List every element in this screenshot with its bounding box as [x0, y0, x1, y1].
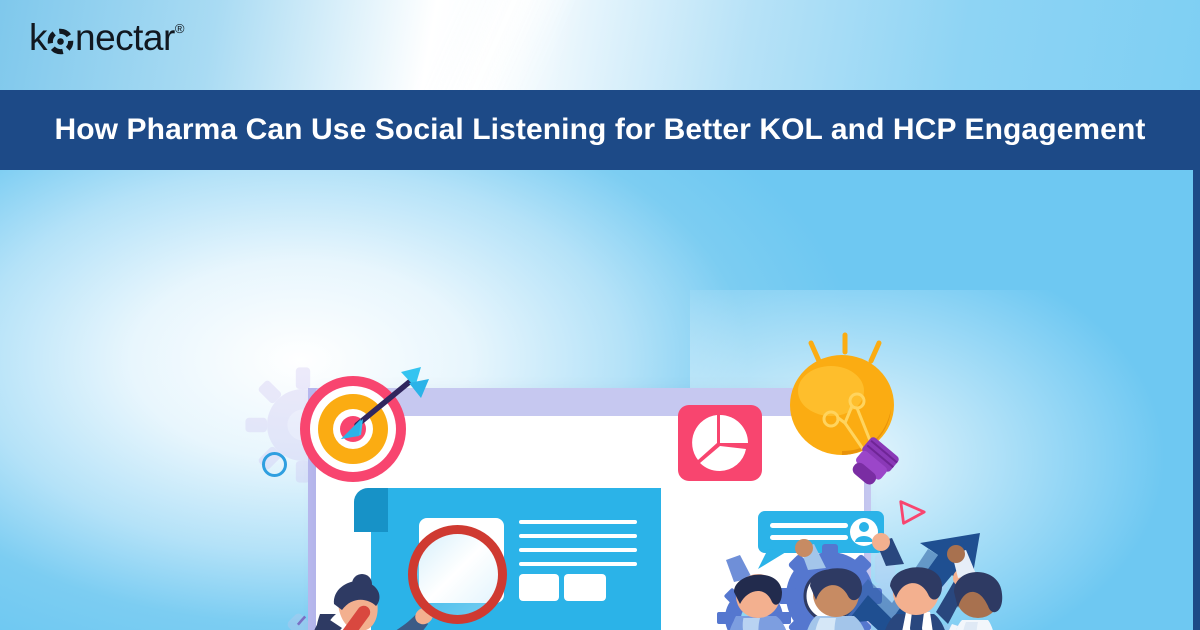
title-bar: How Pharma Can Use Social Listening for …	[0, 90, 1200, 170]
card-text-line	[519, 534, 637, 538]
logo-text-end: nectar	[75, 19, 175, 56]
brand-strip: k nectar ®	[0, 0, 1200, 90]
card-tile	[564, 574, 606, 601]
hero-illustration	[0, 170, 1200, 630]
logo-dotted-o-icon	[47, 28, 74, 55]
decorative-circle-outline	[262, 452, 287, 477]
page-title: How Pharma Can Use Social Listening for …	[54, 113, 1145, 147]
logo-text-start: k	[29, 19, 47, 56]
card-text-line	[519, 548, 637, 552]
card-text-line	[519, 520, 637, 524]
light-streak	[388, 0, 591, 90]
social-share-card: k nectar ® How Pharma Can Use Social Lis…	[0, 0, 1200, 630]
magnifier-lens	[408, 525, 507, 624]
card-text-line	[519, 562, 637, 566]
registered-trademark-icon: ®	[175, 22, 184, 35]
right-edge-accent	[1193, 170, 1200, 630]
target-with-arrow-icon	[297, 367, 427, 497]
pie-chart-icon	[678, 405, 762, 486]
konectar-logo[interactable]: k nectar ®	[29, 19, 184, 56]
lightbulb-icon	[779, 343, 919, 503]
card-tile	[519, 574, 559, 601]
business-people-group	[700, 520, 1000, 630]
